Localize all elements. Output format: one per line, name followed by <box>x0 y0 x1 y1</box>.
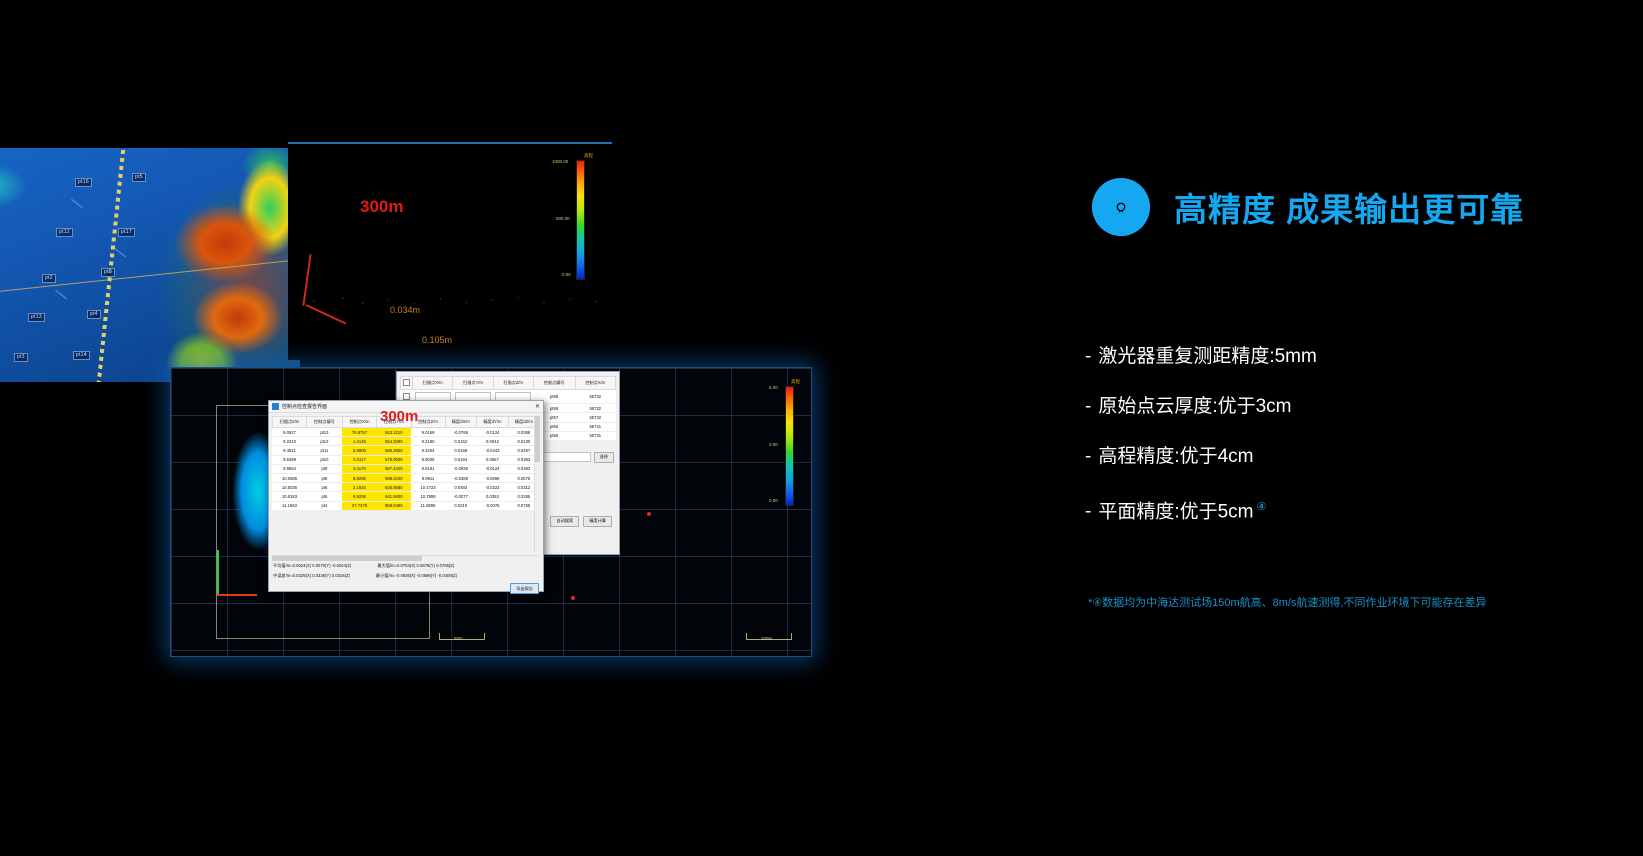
scale-bar-left-label: 50m <box>454 636 463 641</box>
col-header: 控制点X/m <box>575 377 615 390</box>
dialog-title: 控制点检查报告界面 <box>282 403 327 410</box>
measure-value-2: 0.105m <box>422 335 452 345</box>
colorbar-tick: 6.00 <box>769 385 778 390</box>
cloud-point-label: pt4 <box>87 310 101 319</box>
colorbar-tick: 3.00 <box>769 442 778 447</box>
point-cloud-overview-image: pt16 pt5 pt12 pt17 pt2 pt0 pt13 pt4 pt3 … <box>0 148 300 382</box>
col-header: 控制点编号 <box>533 377 575 390</box>
colorbar-tick: 0.00 <box>769 498 778 503</box>
min-error-stat: 最小值/m=-0.0936(X) -0.0696(Y) -0.0409(Z) <box>376 573 457 579</box>
col-header: 扫描点Z/m <box>273 417 307 428</box>
checkbox-icon[interactable] <box>403 379 410 386</box>
cloud-point-label: pt5 <box>132 173 146 182</box>
cloud-point-label: pt14 <box>73 351 90 360</box>
accuracy-compute-button[interactable]: 精度计算 <box>583 516 612 527</box>
cloud-point-label: pt2 <box>42 274 56 283</box>
auto-search-button[interactable]: 自动搜索 <box>550 516 579 527</box>
cloud-point-label: pt13 <box>28 313 45 322</box>
stats-row-2: 中误差/m=0.0325(X) 0.0336(Y) 0.0316(Z) 最小值/… <box>269 571 543 581</box>
footnote-text: *④数据均为中海达测试场150m航高、8m/s航速测得,不同作业环境下可能存在差… <box>1088 594 1487 610</box>
table-row: 9.2310pt121.4145554.33909.21800.01520.00… <box>273 437 540 446</box>
table-row: 11.1663pt427.7376658.049011.08980.0210-0… <box>273 501 540 510</box>
headline-block: 高精度 成果输出更可靠 <box>1090 176 1524 238</box>
list-item: -激光器重复测距精度:5mm <box>1085 340 1317 374</box>
col-header: 控制点编号 <box>307 417 343 428</box>
window-icon <box>272 403 279 410</box>
colorbar-gradient <box>576 160 585 280</box>
cloud-point-label: pt16 <box>75 178 92 187</box>
colorbar-tick: 500.00 <box>556 216 570 221</box>
stats-row-1: 平均值/m=0.0024(X) 0.0070(Y) -0.0044(Z) 最大值… <box>269 561 543 571</box>
overlay-300m-label: 300m <box>380 408 418 425</box>
table-row: 9.6399pt100.3117576.00009.60360.01940.05… <box>273 455 540 464</box>
vertical-scrollbar[interactable] <box>534 416 540 552</box>
close-icon[interactable]: ✕ <box>535 404 540 410</box>
cp-x-cell: 55732 <box>575 404 615 413</box>
export-report-button[interactable]: 导出报告 <box>510 583 539 594</box>
cp-x-cell: 55732 <box>575 413 615 422</box>
bullet-dash: - <box>1085 501 1091 522</box>
checkbox-icon[interactable] <box>403 393 410 400</box>
col-header: 扫描点Z/m <box>493 377 533 390</box>
elevation-colorbar: 高程 1000.00 500.00 0.00 <box>576 160 585 280</box>
footnote-marker: ④ <box>1257 501 1267 513</box>
list-item: -原始点云厚度:优于3cm <box>1085 390 1317 424</box>
elevation-colorbar-bottom: 高程 6.00 3.00 0.00 <box>785 386 794 506</box>
table-row: 9.0527pt1376.8757843.12109.0159-0.0768-0… <box>273 428 540 437</box>
cloud-point-label: pt0 <box>101 268 115 277</box>
leader-tick <box>114 248 126 257</box>
axis-y-arrow <box>217 550 219 594</box>
scale-bar-right-label: 100m <box>761 636 772 641</box>
colorbar-gradient <box>785 386 794 506</box>
mean-error-stat: 平均值/m=0.0024(X) 0.0070(Y) -0.0044(Z) <box>273 563 351 569</box>
leader-tick <box>55 290 67 299</box>
browse-button[interactable]: 选择 <box>594 452 614 463</box>
cp-x-cell: 55731 <box>575 422 615 431</box>
select-all-checkbox-cell[interactable] <box>401 377 413 390</box>
range-profile-view: 300m 0.034m 0.105m 高程 1000.00 500.00 0.0… <box>288 142 612 360</box>
list-item: -平面精度:优于5cm④ <box>1085 490 1317 529</box>
rms-error-stat: 中误差/m=0.0325(X) 0.0336(Y) 0.0316(Z) <box>273 573 350 579</box>
colorbar-title: 高程 <box>584 153 593 159</box>
table-row: 10.5035pt62.1934625.658010.47230.0493-0.… <box>273 483 540 492</box>
axis-x-arrow <box>217 594 257 596</box>
spec-text: 高程精度:优于4cm <box>1098 446 1253 467</box>
cp-x-cell: 55731 <box>575 431 615 440</box>
bullet-dash: - <box>1085 346 1091 367</box>
measure-value-1: 0.034m <box>390 305 420 315</box>
max-error-stat: 最大值/m=0.0753(X) 0.0879(Y) 0.0765(Z) <box>377 563 454 569</box>
bullet-dash: - <box>1085 446 1091 467</box>
slide-root: pt16 pt5 pt12 pt17 pt2 pt0 pt13 pt4 pt3 … <box>0 0 1643 856</box>
spec-text: 原始点云厚度:优于3cm <box>1098 396 1291 417</box>
table-row: 10.0586pt89.8296598.34409.9911-0.0388-0.… <box>273 473 540 482</box>
cloud-point-label: pt3 <box>14 353 28 362</box>
colorbar-title: 高程 <box>791 379 800 385</box>
range-300m-label: 300m <box>360 197 403 217</box>
accuracy-table: 扫描点Z/m 控制点编号 控制点X/m 控制点Y/m 控制点Z/m 精度dX/m… <box>272 416 540 511</box>
colorbar-tick: 0.00 <box>562 272 571 277</box>
col-header: 精度dX/m <box>445 417 477 428</box>
page-title: 高精度 成果输出更可靠 <box>1174 183 1524 231</box>
col-header: 扫描点X/m <box>413 377 453 390</box>
col-header: 控制点X/m <box>342 417 376 428</box>
spec-text: 平面精度:优于5cm <box>1098 501 1253 522</box>
marker-point <box>647 512 651 516</box>
col-header: 精度dY/m <box>477 417 509 428</box>
table-row: 9.4521pt115.8900565.28509.42540.0168-0.0… <box>273 446 540 455</box>
list-item: -高程精度:优于4cm <box>1085 440 1317 474</box>
colorbar-tick: 1000.00 <box>552 159 568 164</box>
cloud-point-label: pt12 <box>56 228 73 237</box>
accuracy-report-dialog[interactable]: 控制点检查报告界面 ✕ 扫描点Z/m 控制点编号 控制点X/m 控制点Y/m 控… <box>268 400 544 592</box>
point-cloud-profile-band <box>288 294 612 308</box>
table-row: 10.8183pt59.9206641.940010.7898-0.00770.… <box>273 492 540 501</box>
leader-tick <box>71 199 83 208</box>
cloud-point-label: pt17 <box>118 228 135 237</box>
cp-x-cell: 55732 <box>575 390 615 404</box>
gnss-target-icon <box>1090 176 1152 238</box>
spec-text: 激光器重复测距精度:5mm <box>1098 346 1317 367</box>
table-row: 9.8564pt95.1178587.44209.8181-0.0936-0.0… <box>273 464 540 473</box>
bullet-dash: - <box>1085 396 1091 417</box>
col-header: 扫描点Y/m <box>453 377 493 390</box>
registration-report-screenshot: 50m 100m 高程 6.00 3.00 0.00 扫描点X/m 扫描点Y/m… <box>170 367 812 657</box>
marker-point <box>571 596 575 600</box>
scrollbar-thumb[interactable] <box>535 416 540 462</box>
spec-list: -激光器重复测距精度:5mm -原始点云厚度:优于3cm -高程精度:优于4cm… <box>1085 340 1317 545</box>
dotted-track-line <box>96 148 126 382</box>
